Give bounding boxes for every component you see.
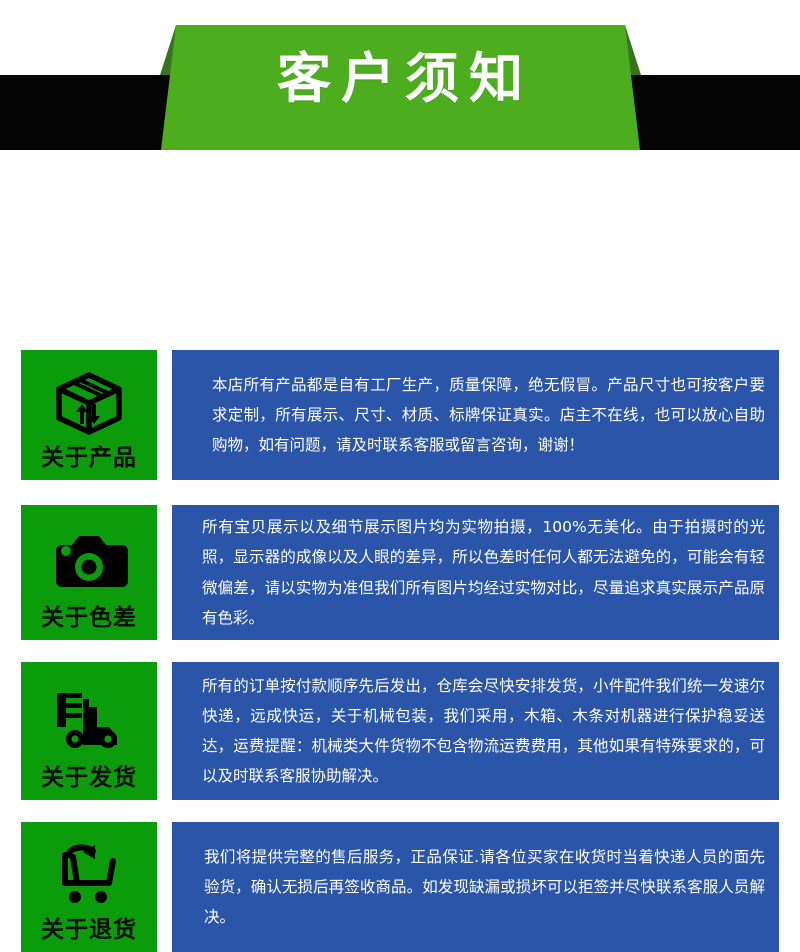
camera-icon [21, 514, 157, 607]
panel-shipping: 所有的订单按付款顺序先后发出，仓库会尽快安排发货，小件配件我们统一发速尔快递，远… [172, 662, 779, 800]
badge-label-product: 关于产品 [41, 447, 137, 480]
banner-title-container: 客户须知 [0, 0, 800, 150]
panel-text-return: 我们将提供完整的售后服务，正品保证.请各位买家在收货时当着快递人员的面先验货，确… [172, 842, 779, 933]
panel-text-shipping: 所有的订单按付款顺序先后发出，仓库会尽快安排发货，小件配件我们统一发速尔快递，远… [172, 671, 779, 792]
panel-product: 本店所有产品都是自有工厂生产，质量保障，绝无假冒。产品尺寸也可按客户要求定制，所… [172, 350, 779, 480]
package-box-icon [21, 359, 157, 447]
badge-label-shipping: 关于发货 [41, 767, 137, 800]
notice-row-product: 关于产品 本店所有产品都是自有工厂生产，质量保障，绝无假冒。产品尺寸也可按客户要… [0, 350, 800, 480]
notice-row-color: 关于色差 所有宝贝展示以及细节展示图片均为实物拍摄，100%无美化。由于拍摄时的… [0, 505, 800, 640]
notice-row-shipping: 关于发货 所有的订单按付款顺序先后发出，仓库会尽快安排发货，小件配件我们统一发速… [0, 662, 800, 800]
panel-text-product: 本店所有产品都是自有工厂生产，质量保障，绝无假冒。产品尺寸也可按客户要求定制，所… [172, 370, 779, 461]
notice-row-return: 关于退货 我们将提供完整的售后服务，正品保证.请各位买家在收货时当着快递人员的面… [0, 822, 800, 952]
panel-color: 所有宝贝展示以及细节展示图片均为实物拍摄，100%无美化。由于拍摄时的光照，显示… [172, 505, 779, 640]
forklift-truck-icon [21, 671, 157, 767]
badge-label-color: 关于色差 [41, 607, 137, 640]
page-title: 客户须知 [267, 52, 533, 106]
return-cart-icon [21, 831, 157, 919]
badge-return[interactable]: 关于退货 [21, 822, 157, 952]
header-banner: 客户须知 [0, 0, 800, 170]
panel-return: 我们将提供完整的售后服务，正品保证.请各位买家在收货时当着快递人员的面先验货，确… [172, 822, 779, 952]
badge-color[interactable]: 关于色差 [21, 505, 157, 640]
badge-product[interactable]: 关于产品 [21, 350, 157, 480]
panel-text-color: 所有宝贝展示以及细节展示图片均为实物拍摄，100%无美化。由于拍摄时的光照，显示… [172, 512, 779, 633]
badge-label-return: 关于退货 [41, 919, 137, 952]
badge-shipping[interactable]: 关于发货 [21, 662, 157, 800]
